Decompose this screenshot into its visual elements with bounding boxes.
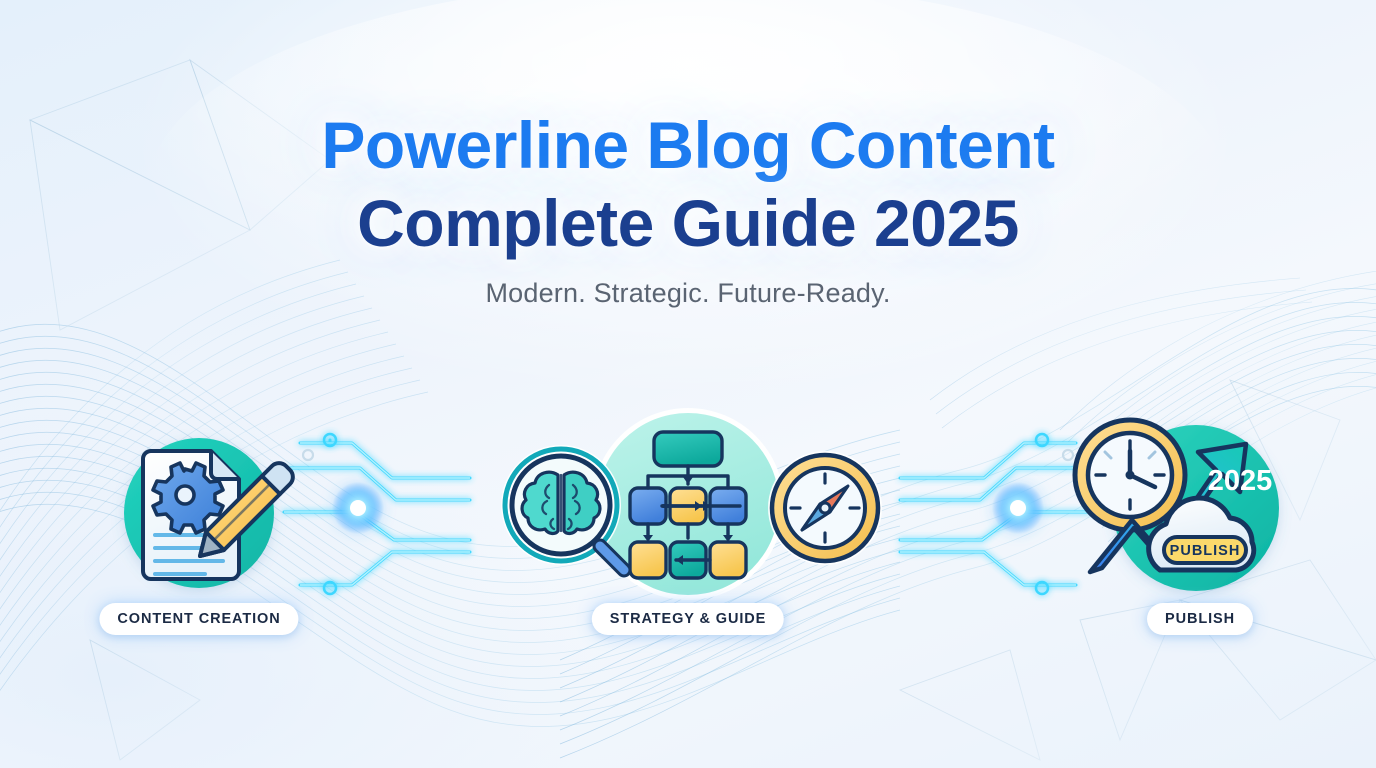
page-title-line-1: Powerline Blog Content xyxy=(0,112,1376,178)
title-block: Powerline Blog Content Complete Guide 20… xyxy=(0,112,1376,309)
stage-label-content-creation[interactable]: CONTENT CREATION xyxy=(99,603,298,635)
stage-label-strategy-guide[interactable]: STRATEGY & GUIDE xyxy=(592,603,784,635)
hero-banner: Powerline Blog Content Complete Guide 20… xyxy=(0,0,1376,768)
page-title-line-2: Complete Guide 2025 xyxy=(0,190,1376,256)
page-subtitle: Modern. Strategic. Future-Ready. xyxy=(0,278,1376,309)
stage-label-publish[interactable]: PUBLISH xyxy=(1147,603,1253,635)
